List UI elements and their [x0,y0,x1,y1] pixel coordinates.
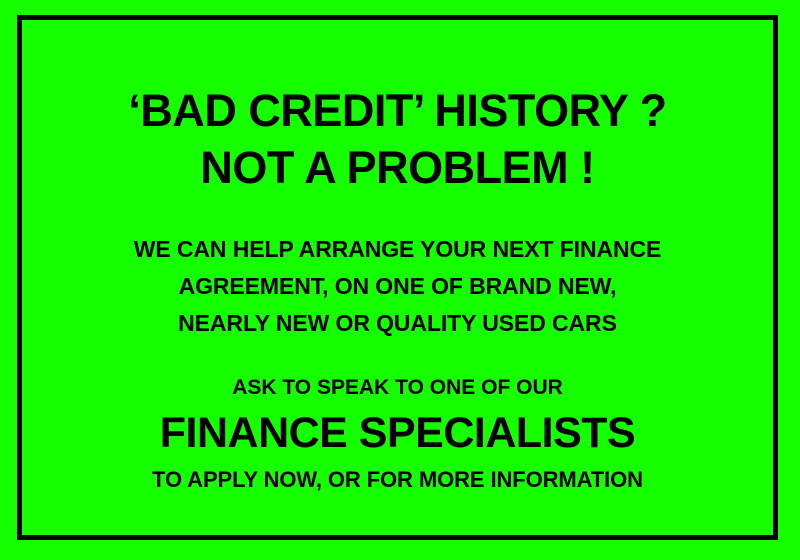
body-text-line-1: WE CAN HELP ARRANGE YOUR NEXT FINANCE [134,238,661,261]
poster-content: ‘BAD CREDIT’ HISTORY ? NOT A PROBLEM ! W… [22,20,773,535]
body-text-line-2: AGREEMENT, ON ONE OF BRAND NEW, [179,275,617,298]
advertisement-poster: ‘BAD CREDIT’ HISTORY ? NOT A PROBLEM ! W… [0,0,800,560]
call-to-action-headline: FINANCE SPECIALISTS [160,412,636,455]
body-text-line-3: NEARLY NEW OR QUALITY USED CARS [178,312,617,335]
headline-line-1: ‘BAD CREDIT’ HISTORY ? [128,88,666,133]
call-to-action-footer: TO APPLY NOW, OR FOR MORE INFORMATION [152,469,643,491]
call-to-action-lead: ASK TO SPEAK TO ONE OF OUR [232,377,563,398]
headline-line-2: NOT A PROBLEM ! [200,145,594,190]
